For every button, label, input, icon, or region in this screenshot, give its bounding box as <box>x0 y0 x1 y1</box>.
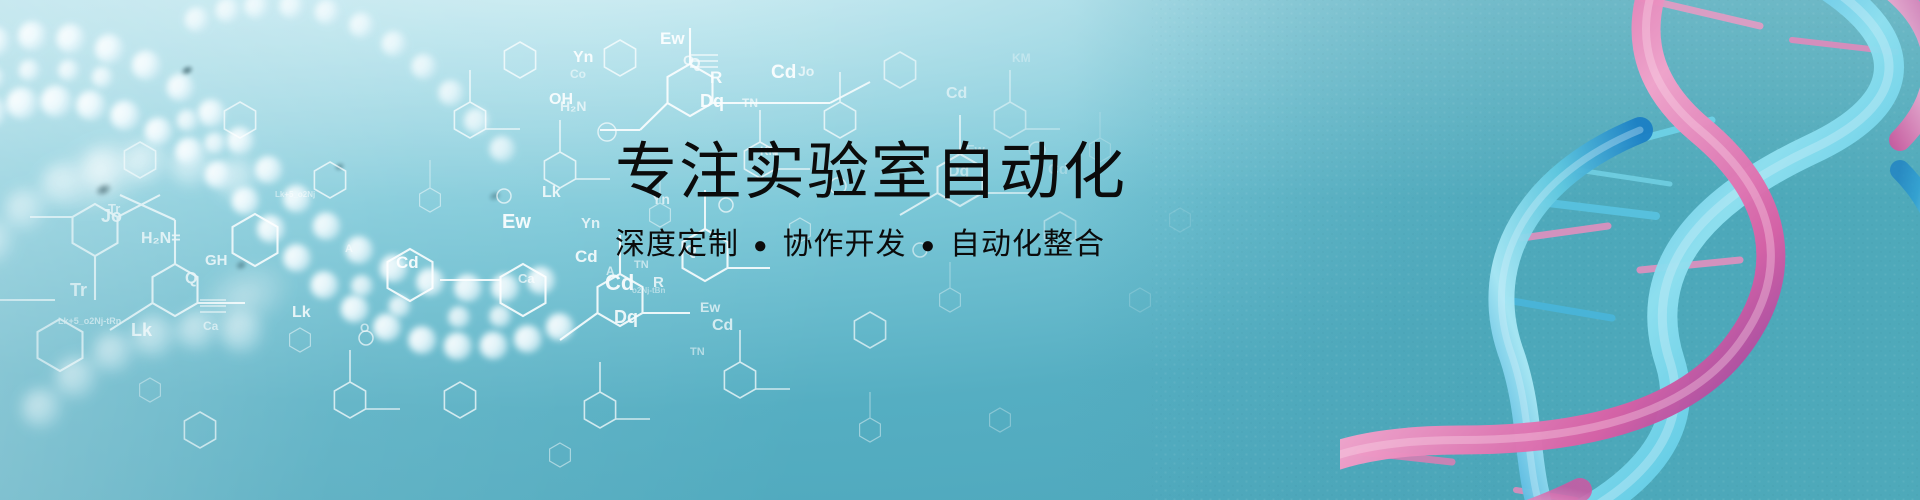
subtitle-item-2: 协作开发 <box>783 228 907 261</box>
hero-banner: CdCdCdCdCdCdCdYnYnYnEwEwEwEwLkLkLkDqDqDq… <box>0 0 1920 500</box>
banner-text-block: 专注实验室自动化 深度定制●协作开发●自动化整合 <box>615 140 1435 261</box>
subtitle-item-3: 自动化整合 <box>950 228 1105 261</box>
banner-headline: 专注实验室自动化 <box>615 140 1435 206</box>
subtitle-separator-1: ● <box>753 234 769 258</box>
banner-subtitle: 深度定制●协作开发●自动化整合 <box>615 228 1435 261</box>
subtitle-item-1: 深度定制 <box>615 228 739 261</box>
subtitle-separator-2: ● <box>921 234 937 258</box>
